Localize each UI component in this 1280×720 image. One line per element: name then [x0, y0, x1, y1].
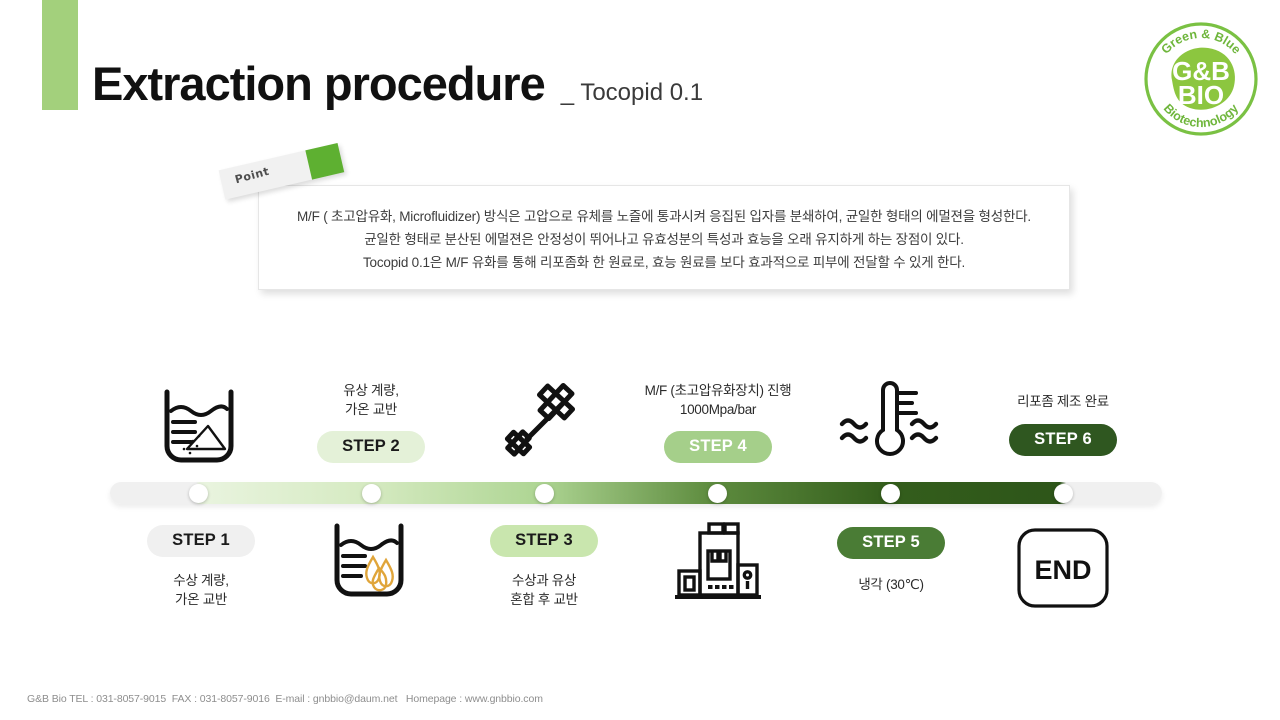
step-5-pill[interactable]: STEP 5: [837, 527, 945, 559]
step-2-pill[interactable]: STEP 2: [317, 431, 425, 463]
footer-contact-text: G&B Bio TEL : 031-8057-9015 FAX : 031-80…: [27, 693, 543, 705]
timeline-node-6: [1054, 484, 1073, 503]
step-1-pill[interactable]: STEP 1: [147, 525, 255, 557]
brand-logo: Green & Blue Biotechnology G&B BIO: [1140, 18, 1262, 140]
note-line-2: 균일한 형태로 분산된 에멀젼은 안정성이 뛰어나고 유효성분의 특성과 효능을…: [258, 228, 1070, 251]
title-block: Extraction procedure _ Tocopid 0.1: [92, 60, 703, 107]
step-6[interactable]: 리포좀 제조 완료 STEP 6: [958, 392, 1168, 456]
timeline-node-2: [362, 484, 381, 503]
timeline-node-4: [708, 484, 727, 503]
point-note-text: M/F ( 초고압유화, Microfluidizer) 방식은 고압으로 유체…: [258, 205, 1070, 274]
step-6-caption-line1: 리포좀 제조 완료: [958, 392, 1168, 411]
header-accent-bar: [42, 0, 78, 110]
timeline-node-1: [189, 484, 208, 503]
point-ribbon-square: [305, 143, 344, 180]
timeline-track: [110, 482, 1162, 504]
point-ribbon-label: Point: [234, 165, 271, 187]
note-line-3: Tocopid 0.1은 M/F 유화를 통해 리포좀화 한 원료로, 효능 원…: [258, 251, 1070, 274]
step-3-pill[interactable]: STEP 3: [490, 525, 598, 557]
note-line-1: M/F ( 초고압유화, Microfluidizer) 방식은 고압으로 유체…: [258, 205, 1070, 228]
timeline-node-5: [881, 484, 900, 503]
step-6-icon-wrap: END: [958, 524, 1168, 612]
step-4-pill[interactable]: STEP 4: [664, 431, 772, 463]
page-title: Extraction procedure: [92, 60, 545, 107]
end-box-icon: END: [958, 524, 1168, 612]
page-subtitle: _ Tocopid 0.1: [561, 79, 703, 107]
step-6-caption: 리포좀 제조 완료: [958, 392, 1168, 411]
end-label: END: [1034, 555, 1091, 585]
timeline-node-3: [535, 484, 554, 503]
logo-center-line2: BIO: [1178, 80, 1224, 110]
step-6-pill[interactable]: STEP 6: [1009, 424, 1117, 456]
